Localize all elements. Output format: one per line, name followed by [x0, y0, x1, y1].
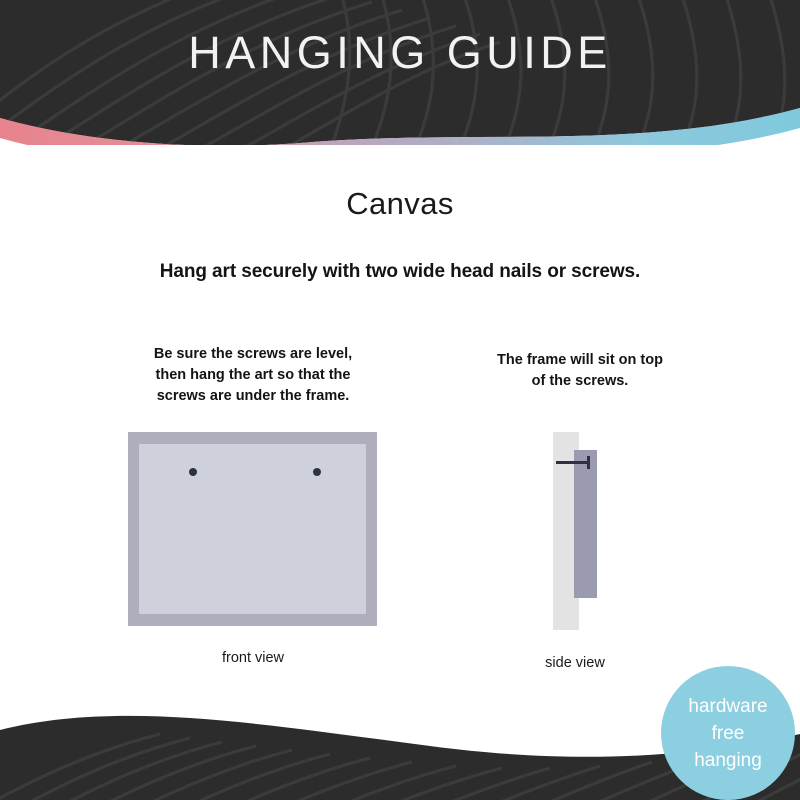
section-title: Canvas	[0, 186, 800, 222]
intro-text: Hang art securely with two wide head nai…	[0, 261, 800, 283]
side-view-frame	[574, 450, 597, 598]
side-view-column: The frame will sit on top of the screws.	[430, 350, 730, 392]
side-view-screw-shaft-icon	[556, 461, 590, 464]
side-view-screw-head-icon	[587, 456, 590, 469]
badge-line-1: hardware	[688, 693, 767, 720]
header-banner: HANGING GUIDE	[0, 0, 800, 145]
side-view-caption: The frame will sit on top of the screws.	[430, 350, 730, 392]
front-view-frame-diagram	[128, 432, 377, 626]
side-view-caption-line-1: The frame will sit on top	[430, 350, 730, 371]
screw-dot-left-icon	[189, 468, 197, 476]
front-view-caption-line-2: then hang the art so that the	[78, 365, 428, 386]
front-view-caption-line-1: Be sure the screws are level,	[78, 344, 428, 365]
front-view-canvas-area	[139, 444, 366, 614]
front-view-column: Be sure the screws are level, then hang …	[78, 344, 428, 407]
page-title: HANGING GUIDE	[0, 30, 800, 75]
hardware-free-hanging-badge: hardware free hanging	[661, 666, 795, 800]
front-view-label: front view	[128, 650, 378, 666]
hanging-guide-page: HANGING GUIDE Canvas Hang art securely w…	[0, 0, 800, 800]
side-view-caption-line-2: of the screws.	[430, 371, 730, 392]
screw-dot-right-icon	[313, 468, 321, 476]
side-view-label: side view	[480, 655, 670, 671]
front-view-caption: Be sure the screws are level, then hang …	[78, 344, 428, 407]
badge-line-3: hanging	[694, 747, 762, 774]
front-view-caption-line-3: screws are under the frame.	[78, 386, 428, 407]
badge-line-2: free	[712, 720, 745, 747]
